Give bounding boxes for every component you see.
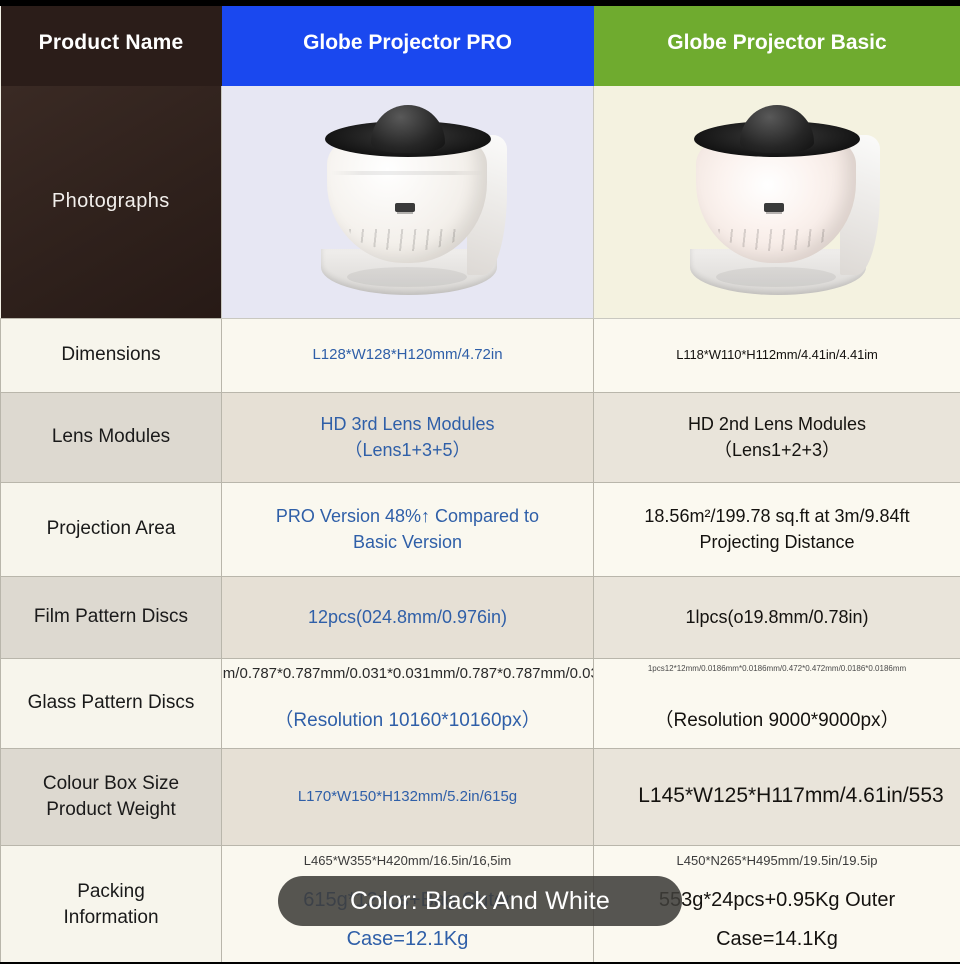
- glass-disc-spec-pro: 1pcs20*20mm/0.787*0.787mm/0.031*0.031mm/…: [222, 663, 594, 685]
- projector-device-illustration: [303, 107, 513, 297]
- row-label-glass-pattern-discs: Glass Pattern Discs: [1, 658, 222, 748]
- row-label-projection-area: Projection Area: [1, 482, 222, 576]
- top-letterbox-bar: [0, 0, 960, 6]
- row-label-colour-box-size: Colour Box Size Product Weight: [1, 748, 222, 845]
- comparison-table: Product Name Globe Projector PRO Globe P…: [0, 0, 960, 964]
- packing-case-pro: Case=12.1Kg: [228, 925, 587, 954]
- packing-carton-basic: L450*N265*H495mm/19.5in/19.5ip: [600, 852, 954, 871]
- packing-carton-pro: L465*W355*H420mm/16.5in/16,5im: [228, 852, 587, 871]
- table-row-projection-area: Projection Area PRO Version 48%↑ Compare…: [1, 482, 960, 576]
- value-dimensions-basic: L118*W110*H112mm/4.41in/4.41im: [594, 318, 960, 392]
- device-usb-port: [395, 203, 415, 212]
- device-usb-port: [764, 203, 784, 212]
- device-seam: [331, 171, 483, 175]
- glass-cell-pro: 1pcs20*20mm/0.787*0.787mm/0.031*0.031mm/…: [228, 661, 587, 746]
- globe-projector-pro-photo: [228, 91, 587, 313]
- header-product-name: Product Name: [1, 0, 222, 86]
- photo-cell-pro: [222, 86, 594, 318]
- color-variant-badge[interactable]: Color: Black And White: [278, 876, 682, 926]
- row-label-photographs: Photographs: [1, 86, 222, 318]
- value-lens-modules-basic: HD 2nd Lens Modules （Lens1+2+3）: [594, 392, 960, 482]
- value-dimensions-pro: L128*W128*H120mm/4.72in: [222, 318, 594, 392]
- value-film-pattern-discs-pro: 12pcs(024.8mm/0.976in): [222, 576, 594, 658]
- table-row-glass-pattern-discs: Glass Pattern Discs 1pcs20*20mm/0.787*0.…: [1, 658, 960, 748]
- photo-cell-basic: [594, 86, 960, 318]
- glass-resolution-basic: （Resolution 9000*9000px）: [600, 707, 954, 735]
- table-row-film-pattern-discs: Film Pattern Discs 12pcs(024.8mm/0.976in…: [1, 576, 960, 658]
- device-lens-dome: [371, 105, 445, 153]
- value-projection-area-basic: 18.56m²/199.78 sq.ft at 3m/9.84ft Projec…: [594, 482, 960, 576]
- value-glass-pattern-discs-pro: 1pcs20*20mm/0.787*0.787mm/0.031*0.031mm/…: [222, 658, 594, 748]
- row-label-dimensions: Dimensions: [1, 318, 222, 392]
- header-globe-projector-basic: Globe Projector Basic: [594, 0, 960, 86]
- row-label-packing-information: Packing Information: [1, 845, 222, 964]
- value-colour-box-size-basic: L145*W125*H117mm/4.61in/553: [594, 748, 960, 845]
- header-globe-projector-pro: Globe Projector PRO: [222, 0, 594, 86]
- value-lens-modules-pro: HD 3rd Lens Modules （Lens1+3+5）: [222, 392, 594, 482]
- value-colour-box-size-pro: L170*W150*H132mm/5.2in/615g: [222, 748, 594, 845]
- glass-cell-basic: 1pcs12*12mm/0.0186mm*0.0186mm/0.472*0.47…: [600, 661, 954, 746]
- row-label-lens-modules: Lens Modules: [1, 392, 222, 482]
- table-row-dimensions: Dimensions L128*W128*H120mm/4.72in L118*…: [1, 318, 960, 392]
- product-comparison-screen: Product Name Globe Projector PRO Globe P…: [0, 0, 960, 964]
- value-film-pattern-discs-basic: 1lpcs(o19.8mm/0.78in): [594, 576, 960, 658]
- device-lens-dome: [740, 105, 814, 153]
- table-row-photographs: Photographs: [1, 86, 960, 318]
- table-row-lens-modules: Lens Modules HD 3rd Lens Modules （Lens1+…: [1, 392, 960, 482]
- value-glass-pattern-discs-basic: 1pcs12*12mm/0.0186mm*0.0186mm/0.472*0.47…: [594, 658, 960, 748]
- packing-case-basic: Case=14.1Kg: [600, 925, 954, 954]
- table-row-colour-box-size: Colour Box Size Product Weight L170*W150…: [1, 748, 960, 845]
- glass-disc-spec-basic: 1pcs12*12mm/0.0186mm*0.0186mm/0.472*0.47…: [594, 663, 960, 675]
- row-label-film-pattern-discs: Film Pattern Discs: [1, 576, 222, 658]
- value-projection-area-pro: PRO Version 48%↑ Compared to Basic Versi…: [222, 482, 594, 576]
- table-header-row: Product Name Globe Projector PRO Globe P…: [1, 0, 960, 86]
- projector-device-illustration: [672, 107, 882, 297]
- globe-projector-basic-photo: [600, 91, 954, 313]
- glass-resolution-pro: （Resolution 10160*10160px）: [228, 707, 587, 735]
